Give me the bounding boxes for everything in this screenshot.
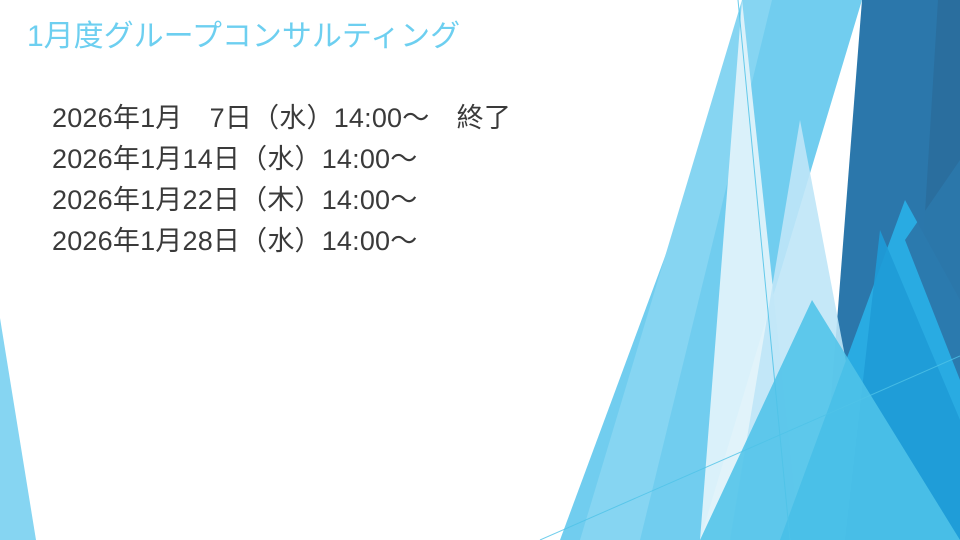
slide-title: 1月度グループコンサルティング (27, 18, 727, 56)
hairline-diagonal-vertical (738, 0, 790, 540)
slide-canvas: 1月度グループコンサルティング 2026年1月 7日（水）14:00〜 終了 2… (0, 0, 960, 540)
slide-body: 2026年1月 7日（水）14:00〜 終了 2026年1月14日（水）14:0… (52, 98, 712, 262)
shape-left-sky-wedge (0, 318, 36, 540)
shape-pale-light-wedge (700, 0, 800, 540)
shape-dark-blue-edge (905, 0, 960, 540)
body-line-3: 2026年1月22日（木）14:00〜 (52, 180, 712, 221)
shape-cyan-triangle-bottom (700, 300, 960, 540)
body-line-4: 2026年1月28日（水）14:00〜 (52, 221, 712, 262)
decorative-wedge-left (0, 0, 960, 540)
shape-azure-triangle (780, 200, 960, 540)
decorative-banner-right (0, 0, 960, 540)
shape-sky-band (560, 0, 862, 540)
shape-pale-wedge (730, 120, 880, 540)
hairline-diagonal-shallow (540, 356, 960, 540)
shape-sky-light-band (580, 0, 772, 540)
body-line-2: 2026年1月14日（水）14:00〜 (52, 139, 712, 180)
body-line-1: 2026年1月 7日（水）14:00〜 終了 (52, 98, 712, 139)
shape-mid-blue-triangle (845, 230, 960, 540)
shape-dark-blue-column (820, 0, 960, 540)
shape-dark-blue-spire (905, 160, 960, 380)
